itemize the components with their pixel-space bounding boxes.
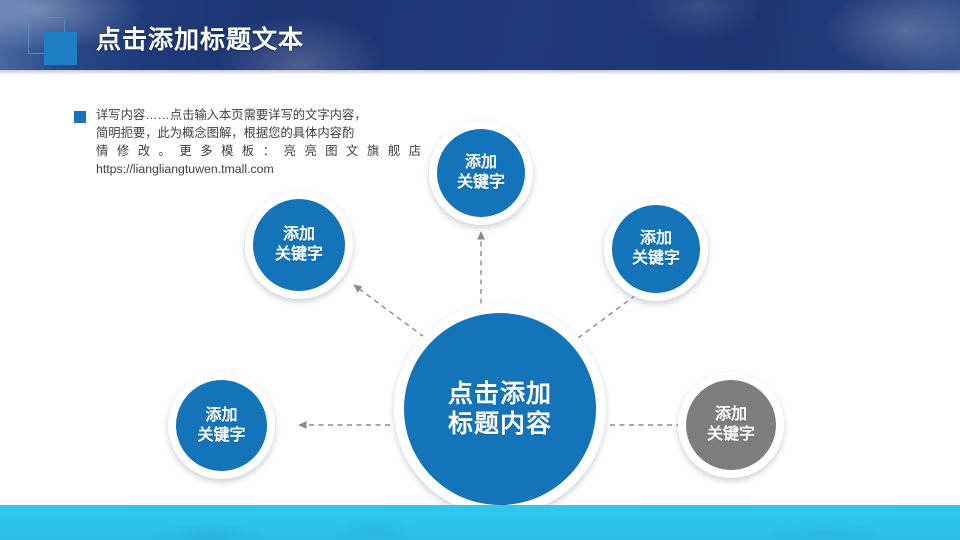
footer-texture-3	[760, 521, 890, 540]
node-lower-right-line2: 关键字	[707, 425, 755, 445]
node-upper-right[interactable]: 添加 关键字	[604, 197, 708, 301]
node-lower-left[interactable]: 添加 关键字	[168, 372, 275, 479]
node-lower-left-line1: 添加	[205, 406, 237, 426]
node-upper-left-line1: 添加	[283, 225, 315, 245]
node-center[interactable]: 点击添加 标题内容	[394, 303, 606, 515]
node-lower-left-core: 添加 关键字	[176, 380, 267, 471]
node-top-core: 添加 关键字	[437, 129, 525, 217]
slide-header: 点击添加标题文本	[0, 0, 960, 70]
node-upper-right-line2: 关键字	[632, 249, 680, 269]
connector-to-upper-left	[354, 285, 424, 337]
concept-diagram: 添加 关键字 添加 关键字 添加 关键字 添加 关键字	[0, 70, 960, 540]
page-title: 点击添加标题文本	[96, 20, 304, 56]
node-upper-left-core: 添加 关键字	[253, 199, 345, 291]
node-upper-right-line1: 添加	[640, 229, 672, 249]
node-center-core: 点击添加 标题内容	[404, 313, 596, 505]
node-center-line2: 标题内容	[448, 409, 552, 440]
slide-footer	[0, 505, 960, 540]
footer-texture-2	[330, 519, 420, 540]
node-lower-right[interactable]: 添加 关键字	[678, 372, 784, 478]
node-lower-right-line1: 添加	[715, 405, 747, 425]
node-upper-left-line2: 关键字	[275, 245, 323, 265]
node-lower-left-line2: 关键字	[197, 426, 245, 446]
node-top-line2: 关键字	[457, 173, 505, 193]
node-upper-left[interactable]: 添加 关键字	[245, 191, 353, 299]
slide: 点击添加标题文本 详写内容……点击输入本页需要详写的文字内容， 简明扼要，此为概…	[0, 0, 960, 540]
node-lower-right-core: 添加 关键字	[686, 380, 776, 470]
footer-texture-1	[150, 523, 270, 540]
header-filled-square-icon	[44, 32, 77, 65]
node-top-line1: 添加	[465, 153, 497, 173]
node-upper-right-core: 添加 关键字	[612, 205, 700, 293]
node-center-line1: 点击添加	[448, 379, 552, 410]
node-top[interactable]: 添加 关键字	[429, 121, 533, 225]
